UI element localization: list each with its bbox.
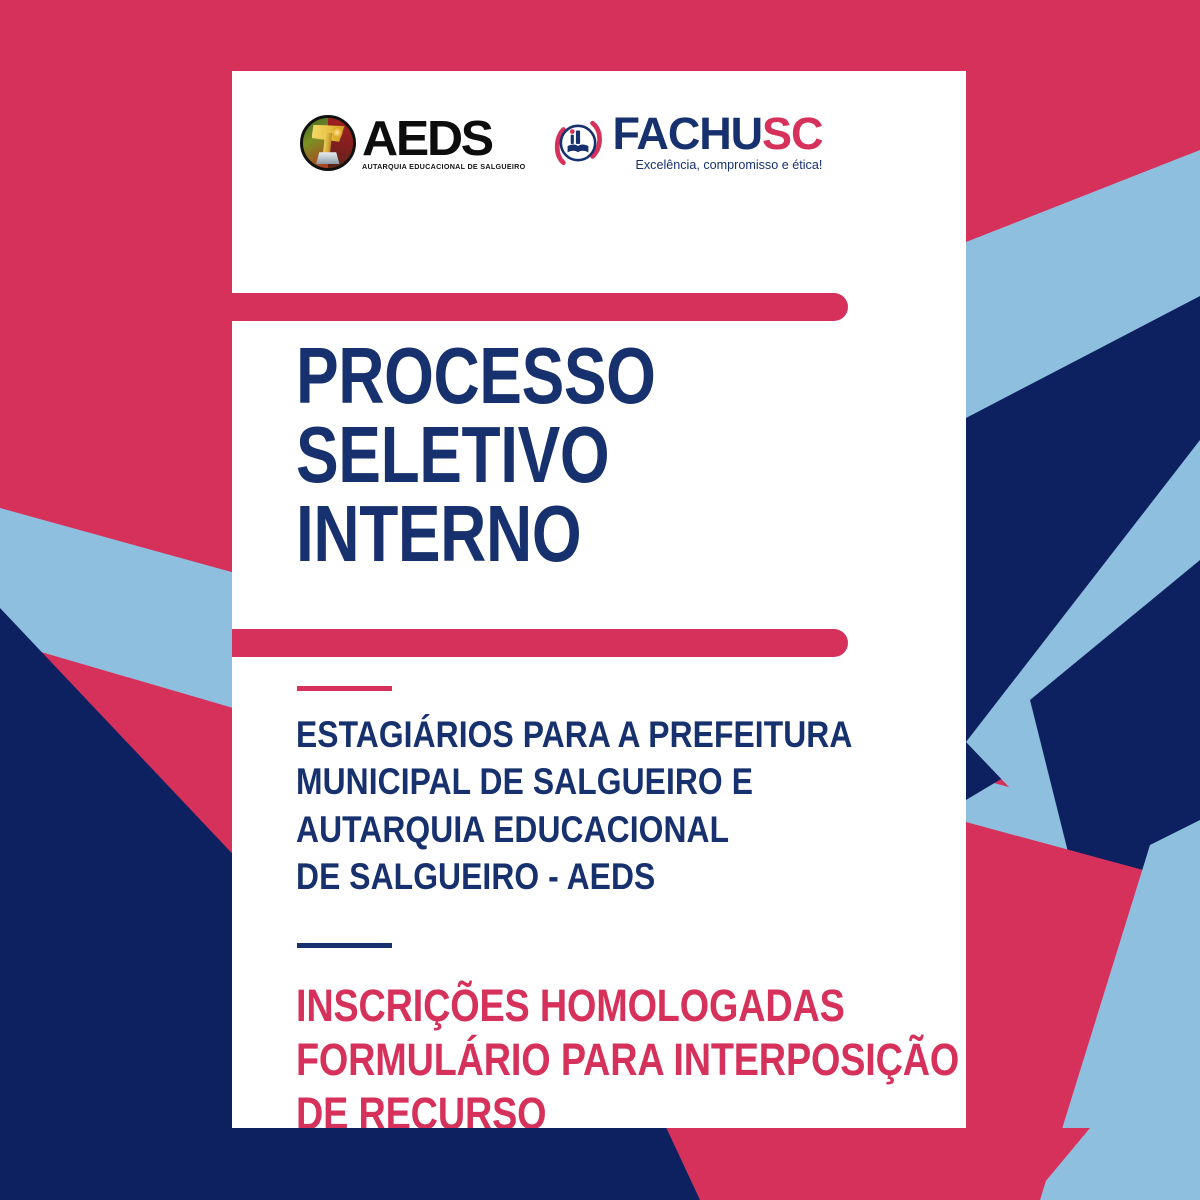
fachusc-wordmark: FACHUSC [613,114,823,155]
highlight-block: INSCRIÇÕES HOMOLOGADAS FORMULÁRIO PARA I… [296,979,959,1128]
pink-bar-bottom [232,629,848,657]
poster-card: AEDS AUTARQUIA EDUCACIONAL DE SALGUEIRO [232,71,966,1128]
highlight-line-1: INSCRIÇÕES HOMOLOGADAS [296,979,959,1033]
subtitle-block: ESTAGIÁRIOS PARA A PREFEITURA MUNICIPAL … [296,711,852,900]
fachusc-logo: FACHUSC Excelência, compromisso e ética! [552,114,823,172]
fachusc-wordmark-primary: FACHU [613,108,763,159]
highlight-line-2: FORMULÁRIO PARA INTERPOSIÇÃO [296,1033,959,1087]
aeds-logo: AEDS AUTARQUIA EDUCACIONAL DE SALGUEIRO [300,115,526,171]
main-title-line-2: SELETIVO [296,415,656,494]
aeds-wordmark-text: AEDS [362,118,529,160]
main-title-line-1: PROCESSO [296,336,656,415]
poster-canvas: AEDS AUTARQUIA EDUCACIONAL DE SALGUEIRO [0,0,1200,1200]
highlight-line-3: DE RECURSO [296,1087,959,1128]
subtitle-line-1: ESTAGIÁRIOS PARA A PREFEITURA [296,711,852,758]
fachusc-slogan-text: Excelência, compromisso e ética! [613,158,823,172]
fachusc-book-pen-icon [552,117,604,169]
subtitle-line-4: DE SALGUEIRO - AEDS [296,853,852,900]
logo-row: AEDS AUTARQUIA EDUCACIONAL DE SALGUEIRO [300,114,822,172]
divider-rule-navy [297,943,392,948]
pink-bar-top [232,293,848,321]
aeds-subtitle-text: AUTARQUIA EDUCACIONAL DE SALGUEIRO [362,162,526,171]
subtitle-line-3: AUTARQUIA EDUCACIONAL [296,806,852,853]
subtitle-line-2: MUNICIPAL DE SALGUEIRO E [296,758,852,805]
main-title-line-3: INTERNO [296,494,656,573]
main-title: PROCESSO SELETIVO INTERNO [296,336,656,574]
divider-rule-pink [297,686,392,691]
aeds-emblem-icon [300,115,356,171]
fachusc-wordmark-accent: SC [762,108,822,159]
